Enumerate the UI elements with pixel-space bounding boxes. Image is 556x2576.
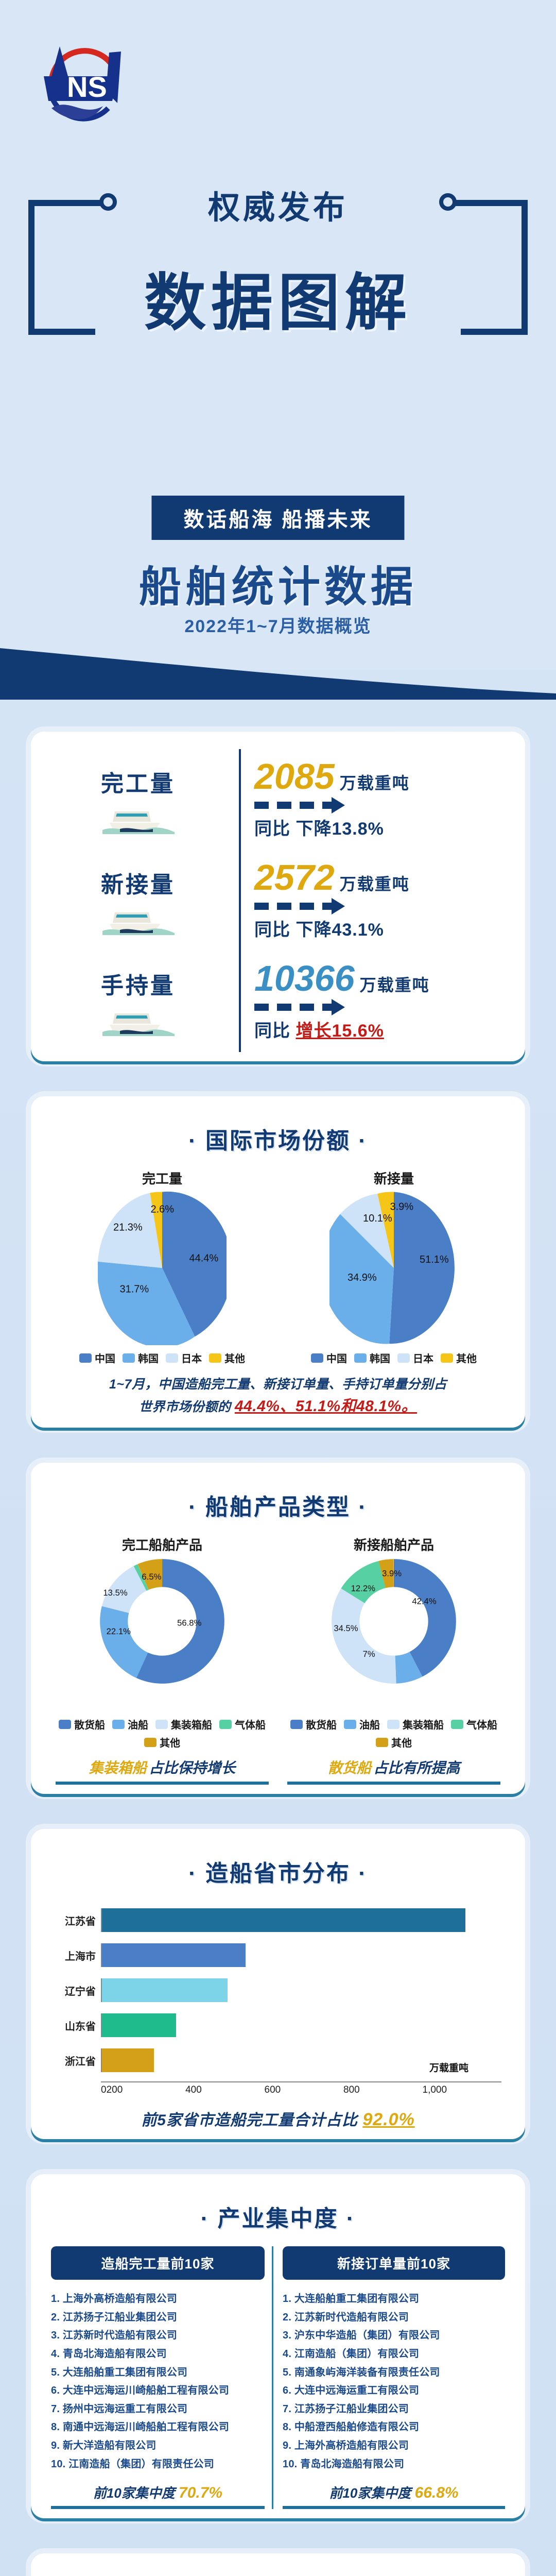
list-item: 1. 大连船舶重工集团有限公司 xyxy=(283,2290,505,2309)
metric-label: 手持量 xyxy=(101,967,175,1000)
axis-tick: 200 xyxy=(107,2084,185,2096)
legend-label: 韩国 xyxy=(370,1350,390,1365)
section-title-province: · 造船省市分布 · xyxy=(46,1855,510,1888)
trend-arrow-icon xyxy=(254,999,510,1015)
product-type-foot-right: 散货船 占比有所提高 xyxy=(287,1757,500,1785)
legend-label: 其他 xyxy=(391,1735,412,1750)
metric-row-label: 完工量 xyxy=(46,749,230,850)
metrics-values-column: 2085 万载重吨 同比 下降13.8% 2572 万载重 xyxy=(241,749,510,1052)
bar-category-label: 浙江省 xyxy=(55,2053,101,2068)
svg-text:3.9%: 3.9% xyxy=(390,1201,414,1213)
market-share-note: 1~7月，中国造船完工量、新接订单量、手持订单量分别占 世界市场份额的 44.4… xyxy=(46,1375,510,1418)
concentration-columns: 造船完工量前10家 1. 上海外高桥造船有限公司 2. 江苏扬子江船业集团公司 … xyxy=(46,2246,510,2509)
axis-tick: 800 xyxy=(343,2084,422,2096)
page-title: 数据图解 xyxy=(0,252,556,342)
bar-category-label: 江苏省 xyxy=(55,1913,101,1928)
monthly-card-wrapper: · 7月当月指标 · 万载重吨 0 100 200 300 400 500 xyxy=(0,2540,556,2576)
svg-text:NS: NS xyxy=(67,71,107,103)
svg-text:56.8%: 56.8% xyxy=(177,1618,201,1628)
legend-label: 散货船 xyxy=(74,1717,105,1732)
company-list-completed: 造船完工量前10家 1. 上海外高桥造船有限公司 2. 江苏扬子江船业集团公司 … xyxy=(51,2246,273,2509)
metric-change: 同比 下降13.8% xyxy=(254,815,510,840)
list-item: 8. 南通中远海运川崎船舶工程有限公司 xyxy=(51,2418,265,2437)
list-item: 9. 上海外高桥造船有限公司 xyxy=(283,2437,505,2455)
list-item: 5. 南通象屿海洋装备有限责任公司 xyxy=(283,2364,505,2382)
pie-legend: 中国 韩国 日本 其他 xyxy=(283,1350,505,1365)
metric-unit: 万载重吨 xyxy=(360,972,430,996)
ship-icon xyxy=(99,802,177,834)
svg-text:13.5%: 13.5% xyxy=(103,1588,127,1598)
trend-arrow-icon xyxy=(254,797,510,814)
pie-canvas: 51.1% 34.9% 10.1% 3.9% xyxy=(329,1191,458,1345)
section-title-market-share: · 国际市场份额 · xyxy=(46,1122,510,1155)
metric-unit: 万载重吨 xyxy=(340,770,410,794)
axis-tick: 1,000 xyxy=(423,2084,501,2096)
tagline: 数话船海 船播未来 xyxy=(151,496,404,540)
svg-text:42.4%: 42.4% xyxy=(412,1597,436,1606)
list-item: 7. 江苏扬子江船业集团公司 xyxy=(283,2400,505,2419)
metrics-card: 完工量 新接量 xyxy=(31,732,525,1061)
list-item: 3. 江苏新时代造船有限公司 xyxy=(51,2327,265,2345)
bar-row: 辽宁省 xyxy=(55,1976,501,2004)
province-card: · 造船省市分布 · 江苏省 上海市 辽宁省 山东省 xyxy=(31,1829,525,2139)
bar-category-label: 山东省 xyxy=(55,2018,101,2033)
legend-label: 日本 xyxy=(413,1350,433,1365)
list-item: 2. 江苏扬子江船业集团公司 xyxy=(51,2309,265,2327)
svg-text:34.9%: 34.9% xyxy=(347,1272,377,1283)
metric-value-block: 2572 万载重吨 同比 下降43.1% xyxy=(254,850,510,951)
ship-icon xyxy=(99,903,177,935)
svg-text:34.5%: 34.5% xyxy=(334,1623,358,1633)
legend-label: 中国 xyxy=(95,1350,115,1365)
legend-label: 气体船 xyxy=(235,1717,266,1732)
bar-category-label: 辽宁省 xyxy=(55,1983,101,1998)
metrics-labels-column: 完工量 新接量 xyxy=(46,749,241,1052)
list-header-completed: 造船完工量前10家 xyxy=(51,2246,265,2280)
metric-row-label: 手持量 xyxy=(46,951,230,1052)
donut-legend: 散货船 油船 集装箱船 气体船 其他 xyxy=(51,1717,273,1750)
concentration-stat-right: 前10家集中度 66.8% xyxy=(283,2483,505,2509)
legend-label: 其他 xyxy=(160,1735,180,1750)
list-item: 4. 江南造船（集团）有限公司 xyxy=(283,2345,505,2364)
axis-tick: 0 xyxy=(101,2084,107,2096)
svg-text:22.1%: 22.1% xyxy=(107,1626,131,1636)
list-item: 7. 扬州中远海运重工有限公司 xyxy=(51,2400,265,2419)
sub-title: 2022年1~7月数据概览 xyxy=(0,612,556,637)
donut-chart-completed-products: 完工船舶产品 56.8% 22.1% 13.5% xyxy=(51,1535,273,1750)
list-item: 2. 江苏新时代造船有限公司 xyxy=(283,2309,505,2327)
metric-value: 10366 xyxy=(254,961,355,996)
market-share-card-wrapper: · 国际市场份额 · 完工量 44.4% 31.7% xyxy=(0,1083,556,1428)
metric-row-label: 新接量 xyxy=(46,850,230,951)
metric-label: 完工量 xyxy=(101,765,175,798)
cansi-logo-icon: NS xyxy=(31,31,139,139)
list-item: 9. 新大洋造船有限公司 xyxy=(51,2437,265,2455)
concentration-card: · 产业集中度 · 造船完工量前10家 1. 上海外高桥造船有限公司 2. 江苏… xyxy=(31,2174,525,2518)
metrics-grid: 完工量 新接量 xyxy=(46,749,510,1052)
pie-legend: 中国 韩国 日本 其他 xyxy=(51,1350,273,1365)
list-item: 6. 大连中远海运川崎船舶工程有限公司 xyxy=(51,2382,265,2400)
legend-label: 散货船 xyxy=(306,1717,337,1732)
legend-label: 集装箱船 xyxy=(403,1717,444,1732)
axis-unit-label: 万载重吨 xyxy=(429,2060,468,2074)
svg-text:12.2%: 12.2% xyxy=(351,1584,375,1594)
svg-text:6.5%: 6.5% xyxy=(142,1572,161,1582)
legend-label: 集装箱船 xyxy=(171,1717,212,1732)
banner-label: 权威发布 xyxy=(0,181,556,228)
list-item: 1. 上海外高桥造船有限公司 xyxy=(51,2290,265,2309)
header-section: NS 权威发布 数据图解 数话船海 船播未来 船舶统计数据 2022年1~7月数… xyxy=(0,0,556,670)
bar-category-label: 上海市 xyxy=(55,1948,101,1963)
list-item: 6. 大连中远海运重工有限公司 xyxy=(283,2382,505,2400)
svg-text:2.6%: 2.6% xyxy=(151,1204,175,1215)
list-item: 3. 沪东中华造船（集团）有限公司 xyxy=(283,2327,505,2345)
bar-row: 上海市 xyxy=(55,1941,501,1969)
market-share-card: · 国际市场份额 · 完工量 44.4% 31.7% xyxy=(31,1096,525,1428)
metric-value-block: 10366 万载重吨 同比 增长15.6% xyxy=(254,951,510,1052)
product-type-foot-left: 集装箱船 占比保持增长 xyxy=(56,1757,269,1785)
donut-chart-new-products: 新接船舶产品 42.4% 34.5% 7% xyxy=(283,1535,505,1750)
svg-text:31.7%: 31.7% xyxy=(120,1284,149,1295)
bar-row: 江苏省 xyxy=(55,1906,501,1934)
svg-text:21.3%: 21.3% xyxy=(113,1222,143,1233)
donut-canvas: 42.4% 34.5% 7% 12.2% 3.9% xyxy=(329,1557,458,1711)
legend-label: 油船 xyxy=(359,1717,380,1732)
x-axis-ticks: 0 200 400 600 800 1,000 xyxy=(101,2081,501,2096)
axis-tick: 600 xyxy=(265,2084,343,2096)
svg-text:51.1%: 51.1% xyxy=(420,1254,449,1265)
metric-label: 新接量 xyxy=(101,866,175,899)
legend-label: 其他 xyxy=(224,1350,245,1365)
infographic-page: NS 权威发布 数据图解 数话船海 船播未来 船舶统计数据 2022年1~7月数… xyxy=(0,0,556,2576)
pie-charts-row: 完工量 44.4% 31.7% 21.3% 2.6% xyxy=(46,1168,510,1365)
chart-title: 完工量 xyxy=(51,1168,273,1188)
svg-text:10.1%: 10.1% xyxy=(363,1213,392,1224)
list-item: 5. 大连船舶重工集团有限公司 xyxy=(51,2364,265,2382)
chart-title: 完工船舶产品 xyxy=(51,1535,273,1554)
list-item: 8. 中船澄西船舶修造有限公司 xyxy=(283,2418,505,2437)
section-title-product-type: · 船舶产品类型 · xyxy=(46,1488,510,1521)
metric-value: 2572 xyxy=(254,860,335,895)
list-item: 10. 青岛北海造船有限公司 xyxy=(283,2455,505,2474)
product-type-card: · 船舶产品类型 · 完工船舶产品 56.8% xyxy=(31,1463,525,1794)
donut-charts-row: 完工船舶产品 56.8% 22.1% 13.5% xyxy=(46,1535,510,1750)
bar-row: 山东省 xyxy=(55,2011,501,2039)
list-header-new-orders: 新接订单量前10家 xyxy=(283,2246,505,2280)
province-bar-chart: 江苏省 上海市 辽宁省 山东省 浙江省 xyxy=(46,1901,510,2096)
svg-text:3.9%: 3.9% xyxy=(382,1569,402,1579)
donut-canvas: 56.8% 22.1% 13.5% 6.5% xyxy=(98,1557,227,1711)
product-type-card-wrapper: · 船舶产品类型 · 完工船舶产品 56.8% xyxy=(0,1449,556,1794)
legend-label: 油船 xyxy=(128,1717,148,1732)
metric-change: 同比 下降43.1% xyxy=(254,916,510,941)
metric-unit: 万载重吨 xyxy=(340,871,410,895)
list-item: 10. 江南造船（集团）有限责任公司 xyxy=(51,2455,265,2474)
monthly-card: · 7月当月指标 · 万载重吨 0 100 200 300 400 500 xyxy=(31,2553,525,2576)
legend-label: 日本 xyxy=(181,1350,202,1365)
svg-text:7%: 7% xyxy=(363,1649,375,1659)
trend-arrow-icon xyxy=(254,898,510,914)
concentration-card-wrapper: · 产业集中度 · 造船完工量前10家 1. 上海外高桥造船有限公司 2. 江苏… xyxy=(0,2161,556,2518)
pie-chart-completed: 完工量 44.4% 31.7% 21.3% 2.6% xyxy=(51,1168,273,1365)
company-list-new-orders: 新接订单量前10家 1. 大连船舶重工集团有限公司 2. 江苏新时代造船有限公司… xyxy=(283,2246,505,2509)
chart-title: 新接船舶产品 xyxy=(283,1535,505,1554)
concentration-stat-left: 前10家集中度 70.7% xyxy=(51,2483,265,2509)
legend-label: 中国 xyxy=(326,1350,347,1365)
metrics-card-wrapper: 完工量 新接量 xyxy=(0,670,556,1061)
ship-icon xyxy=(99,1004,177,1036)
pie-chart-new-orders: 新接量 51.1% 34.9% 10.1% 3.9% xyxy=(283,1168,505,1365)
metric-value-block: 2085 万载重吨 同比 下降13.8% xyxy=(254,749,510,850)
metric-value: 2085 xyxy=(254,759,335,794)
list-item: 4. 青岛北海造船有限公司 xyxy=(51,2345,265,2364)
product-type-footnotes: 集装箱船 占比保持增长 散货船 占比有所提高 xyxy=(46,1757,510,1785)
legend-label: 韩国 xyxy=(138,1350,159,1365)
svg-text:44.4%: 44.4% xyxy=(189,1253,219,1264)
donut-legend: 散货船 油船 集装箱船 气体船 其他 xyxy=(283,1717,505,1750)
chart-title: 新接量 xyxy=(283,1168,505,1188)
legend-label: 其他 xyxy=(456,1350,477,1365)
metric-change: 同比 增长15.6% xyxy=(254,1016,510,1042)
province-card-wrapper: · 造船省市分布 · 江苏省 上海市 辽宁省 山东省 xyxy=(0,1816,556,2139)
legend-label: 气体船 xyxy=(466,1717,497,1732)
header-swoosh-divider xyxy=(0,644,556,701)
section-title-concentration: · 产业集中度 · xyxy=(46,2200,510,2233)
province-stat-line: 前5家省市造船完工量合计占比 92.0% xyxy=(46,2107,510,2130)
pie-canvas: 44.4% 31.7% 21.3% 2.6% xyxy=(98,1191,227,1345)
main-title: 船舶统计数据 xyxy=(0,552,556,614)
axis-tick: 400 xyxy=(185,2084,264,2096)
